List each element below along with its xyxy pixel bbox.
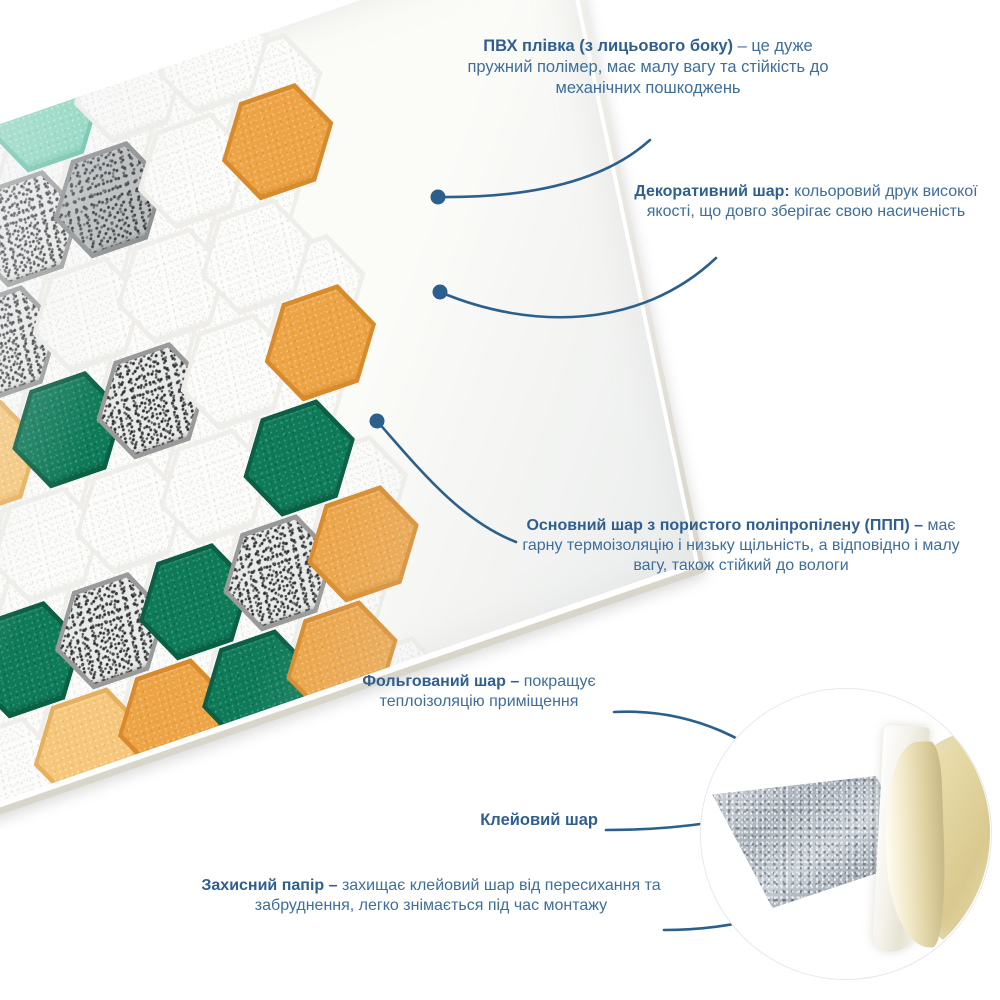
hex-tile-surface — [92, 768, 214, 829]
hex-tile — [223, 769, 356, 829]
hex-tile-surface — [240, 825, 362, 829]
hex-tile-surface — [145, 804, 267, 829]
callout-adhesive-layer-title: Клейовий шар — [480, 811, 598, 829]
callout-pvx-film: ПВХ плівка (з лицьового боку) – це дуже … — [462, 36, 834, 98]
callout-protective-paper: Захисний папір – захищає клейовий шар ві… — [196, 876, 666, 916]
hex-tile — [55, 827, 188, 829]
callout-ppp-core: Основний шар з пористого поліпропілену (… — [506, 516, 976, 576]
hex-tile-surface — [229, 775, 351, 829]
callout-foil-layer-title: Фольгований шар – — [362, 673, 519, 690]
infographic-canvas: ПВХ плівка (з лицьового боку) – це дуже … — [0, 0, 1000, 1000]
hex-tile-surface — [177, 739, 299, 829]
hex-tile-bevel — [0, 820, 52, 829]
callout-decorative-layer: Декоративний шар: кольоровий друк високо… — [620, 182, 992, 222]
hex-tile-surface — [0, 826, 46, 829]
hex-tile-bevel — [139, 798, 272, 829]
hex-tile-bevel — [55, 827, 188, 829]
callout-protective-paper-title: Захисний папір – — [201, 877, 337, 894]
callout-ppp-core-title: Основний шар з пористого поліпропілену (… — [526, 517, 923, 534]
hex-tile — [0, 820, 52, 829]
callout-foil-layer: Фольгований шар – покращує теплоізоляцію… — [350, 672, 608, 712]
corner-detail-photo — [700, 688, 990, 978]
hex-tile — [139, 798, 272, 829]
hex-tile — [234, 820, 367, 829]
callout-decorative-layer-title: Декоративний шар: — [634, 183, 789, 200]
callout-pvx-film-title: ПВХ плівка (з лицьового боку) — [483, 37, 733, 55]
hex-tile-bevel — [223, 769, 356, 829]
hex-tile-bevel — [234, 820, 367, 829]
callout-adhesive-layer: Клейовий шар — [360, 810, 598, 831]
